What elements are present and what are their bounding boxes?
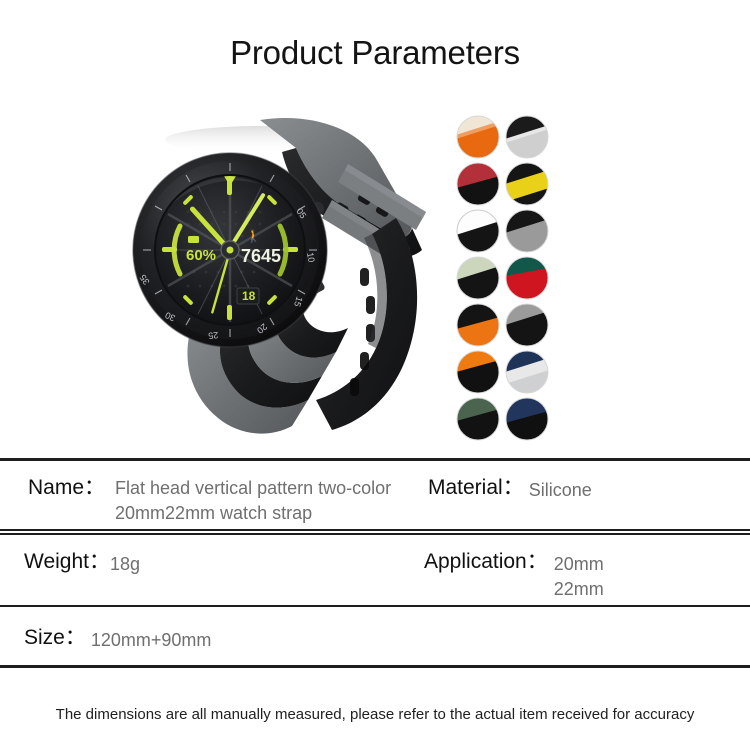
spec-value-application: 20mm 22mm (548, 549, 604, 602)
svg-text:25: 25 (208, 330, 219, 341)
spec-label-weight: Weight： (0, 549, 110, 575)
swatch-white-black[interactable] (456, 209, 500, 253)
swatch-orange-cream[interactable] (456, 115, 500, 159)
spec-value-application-line1: 20mm (554, 552, 604, 577)
spec-value-name: Flat head vertical pattern two-color 20m… (105, 475, 391, 526)
swatch-red-black[interactable] (456, 162, 500, 206)
swatch-navy-black[interactable] (505, 397, 549, 441)
spec-cell-size: Size： 120mm+90mm (0, 625, 418, 653)
table-row: Name： Flat head vertical pattern two-col… (0, 461, 750, 529)
swatch-black-yellow[interactable] (505, 162, 549, 206)
spec-value-application-line2: 22mm (554, 577, 604, 602)
swatch-row (456, 303, 556, 347)
spec-cell-material: Material： Silicone (418, 475, 750, 503)
svg-text:18: 18 (242, 289, 256, 303)
measurement-disclaimer: The dimensions are all manually measured… (0, 705, 750, 725)
swatch-row (456, 209, 556, 253)
swatch-orange-black[interactable] (456, 350, 500, 394)
spec-cell-application: Application： 20mm 22mm (418, 549, 750, 602)
swatch-sage-black[interactable] (456, 256, 500, 300)
product-photo-smartwatch: 05 10 15 20 25 30 35 (110, 100, 450, 435)
spec-value-name-line2: 20mm22mm watch strap (115, 501, 391, 526)
spec-cell-name: Name： Flat head vertical pattern two-col… (0, 475, 418, 526)
spec-value-name-line1: Flat head vertical pattern two-color (115, 476, 391, 501)
svg-text:10: 10 (305, 252, 317, 264)
swatch-navy-white[interactable] (505, 350, 549, 394)
table-row: Size： 120mm+90mm (0, 607, 750, 665)
swatch-row (456, 397, 556, 441)
swatch-green-red[interactable] (505, 256, 549, 300)
swatch-row (456, 162, 556, 206)
swatch-black-silver[interactable] (505, 115, 549, 159)
svg-text:60%: 60% (186, 247, 216, 264)
spec-label-size: Size： (0, 625, 86, 651)
page-title: Product Parameters (0, 33, 750, 73)
spec-value-material: Silicone (529, 475, 592, 503)
spec-label-name: Name： (0, 475, 105, 501)
spec-label-material: Material： (418, 475, 524, 501)
swatch-forest-black[interactable] (456, 397, 500, 441)
spec-table: Name： Flat head vertical pattern two-col… (0, 458, 750, 668)
table-rule-bottom (0, 665, 750, 668)
color-variant-swatches[interactable] (456, 115, 556, 444)
swatch-gray-black[interactable] (505, 303, 549, 347)
swatch-row (456, 115, 556, 159)
swatch-row (456, 256, 556, 300)
spec-label-application: Application： (418, 549, 548, 575)
swatch-row (456, 350, 556, 394)
spec-value-size: 120mm+90mm (91, 625, 212, 653)
spec-cell-weight: Weight： 18g (0, 549, 418, 577)
table-row: Weight： 18g Application： 20mm 22mm (0, 535, 750, 605)
spec-value-weight: 18g (110, 549, 140, 577)
swatch-black-gray[interactable] (505, 209, 549, 253)
hero-section: 05 10 15 20 25 30 35 (0, 95, 750, 440)
svg-text:🚶: 🚶 (246, 229, 261, 243)
svg-text:7645: 7645 (241, 246, 281, 266)
swatch-black-orange[interactable] (456, 303, 500, 347)
